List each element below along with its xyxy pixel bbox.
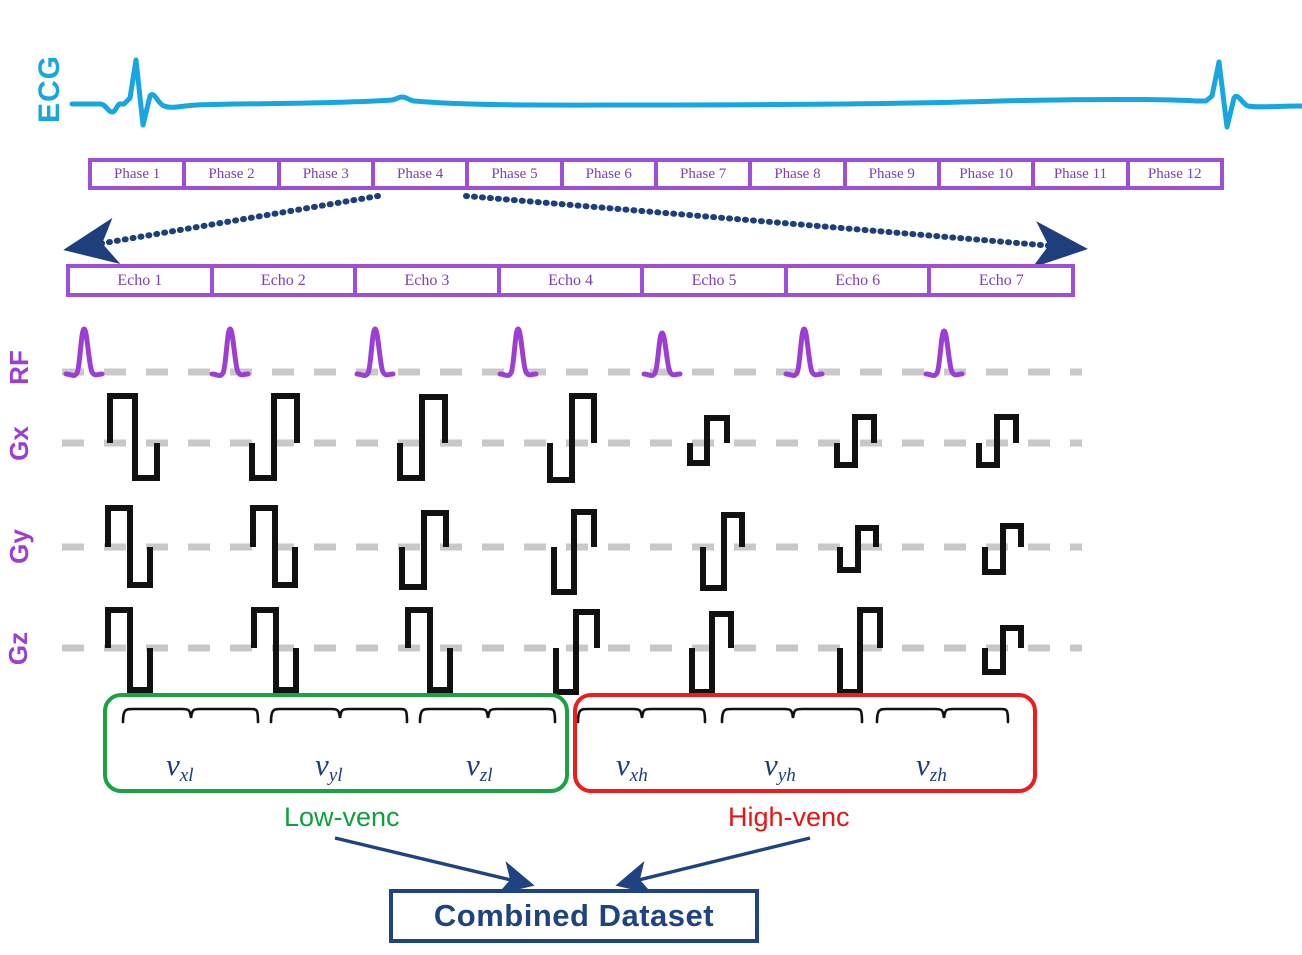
low-venc-caption: Low-venc [284,802,400,833]
low-venc-arrow [335,838,528,884]
pulse-sequence-diagram: ECG Phase 1Phase 2Phase 3Phase 4Phase 5P… [0,0,1302,955]
venc-symbol: v [616,747,630,782]
combine-arrow-group [335,838,810,884]
gz-lobe [556,612,597,692]
high-venc-caption: High-venc [728,802,850,833]
gy-lobe [554,512,594,592]
gx-lobe [400,397,445,478]
venc-label-xl: vxl [166,747,194,787]
venc-symbol: v [166,747,180,782]
gz-lobe [692,614,731,692]
venc-label-zh: vzh [916,747,947,787]
venc-label-xh: vxh [616,747,648,787]
waveform-layer [0,0,1302,955]
venc-subscript: yl [329,765,343,786]
venc-label-zl: vzl [466,747,493,787]
venc-subscript: zh [930,765,947,786]
venc-label-yl: vyl [315,747,343,787]
venc-symbol: v [916,747,930,782]
venc-subscript: yh [778,765,796,786]
venc-label-yh: vyh [764,747,796,787]
venc-symbol: v [764,747,778,782]
venc-subscript: zl [480,765,493,786]
gx-lobe [550,396,594,480]
gx-gradient-group [110,396,1016,480]
high-venc-arrow [622,838,810,884]
gx-lobe [979,417,1016,465]
gx-lobe [110,396,157,478]
gx-lobe [252,396,297,478]
gy-lobe [703,515,742,588]
venc-subscript: xl [180,765,194,786]
venc-subscript: xh [630,765,648,786]
venc-symbol: v [315,747,329,782]
venc-symbol: v [466,747,480,782]
combined-dataset-box: Combined Dataset [389,889,759,943]
